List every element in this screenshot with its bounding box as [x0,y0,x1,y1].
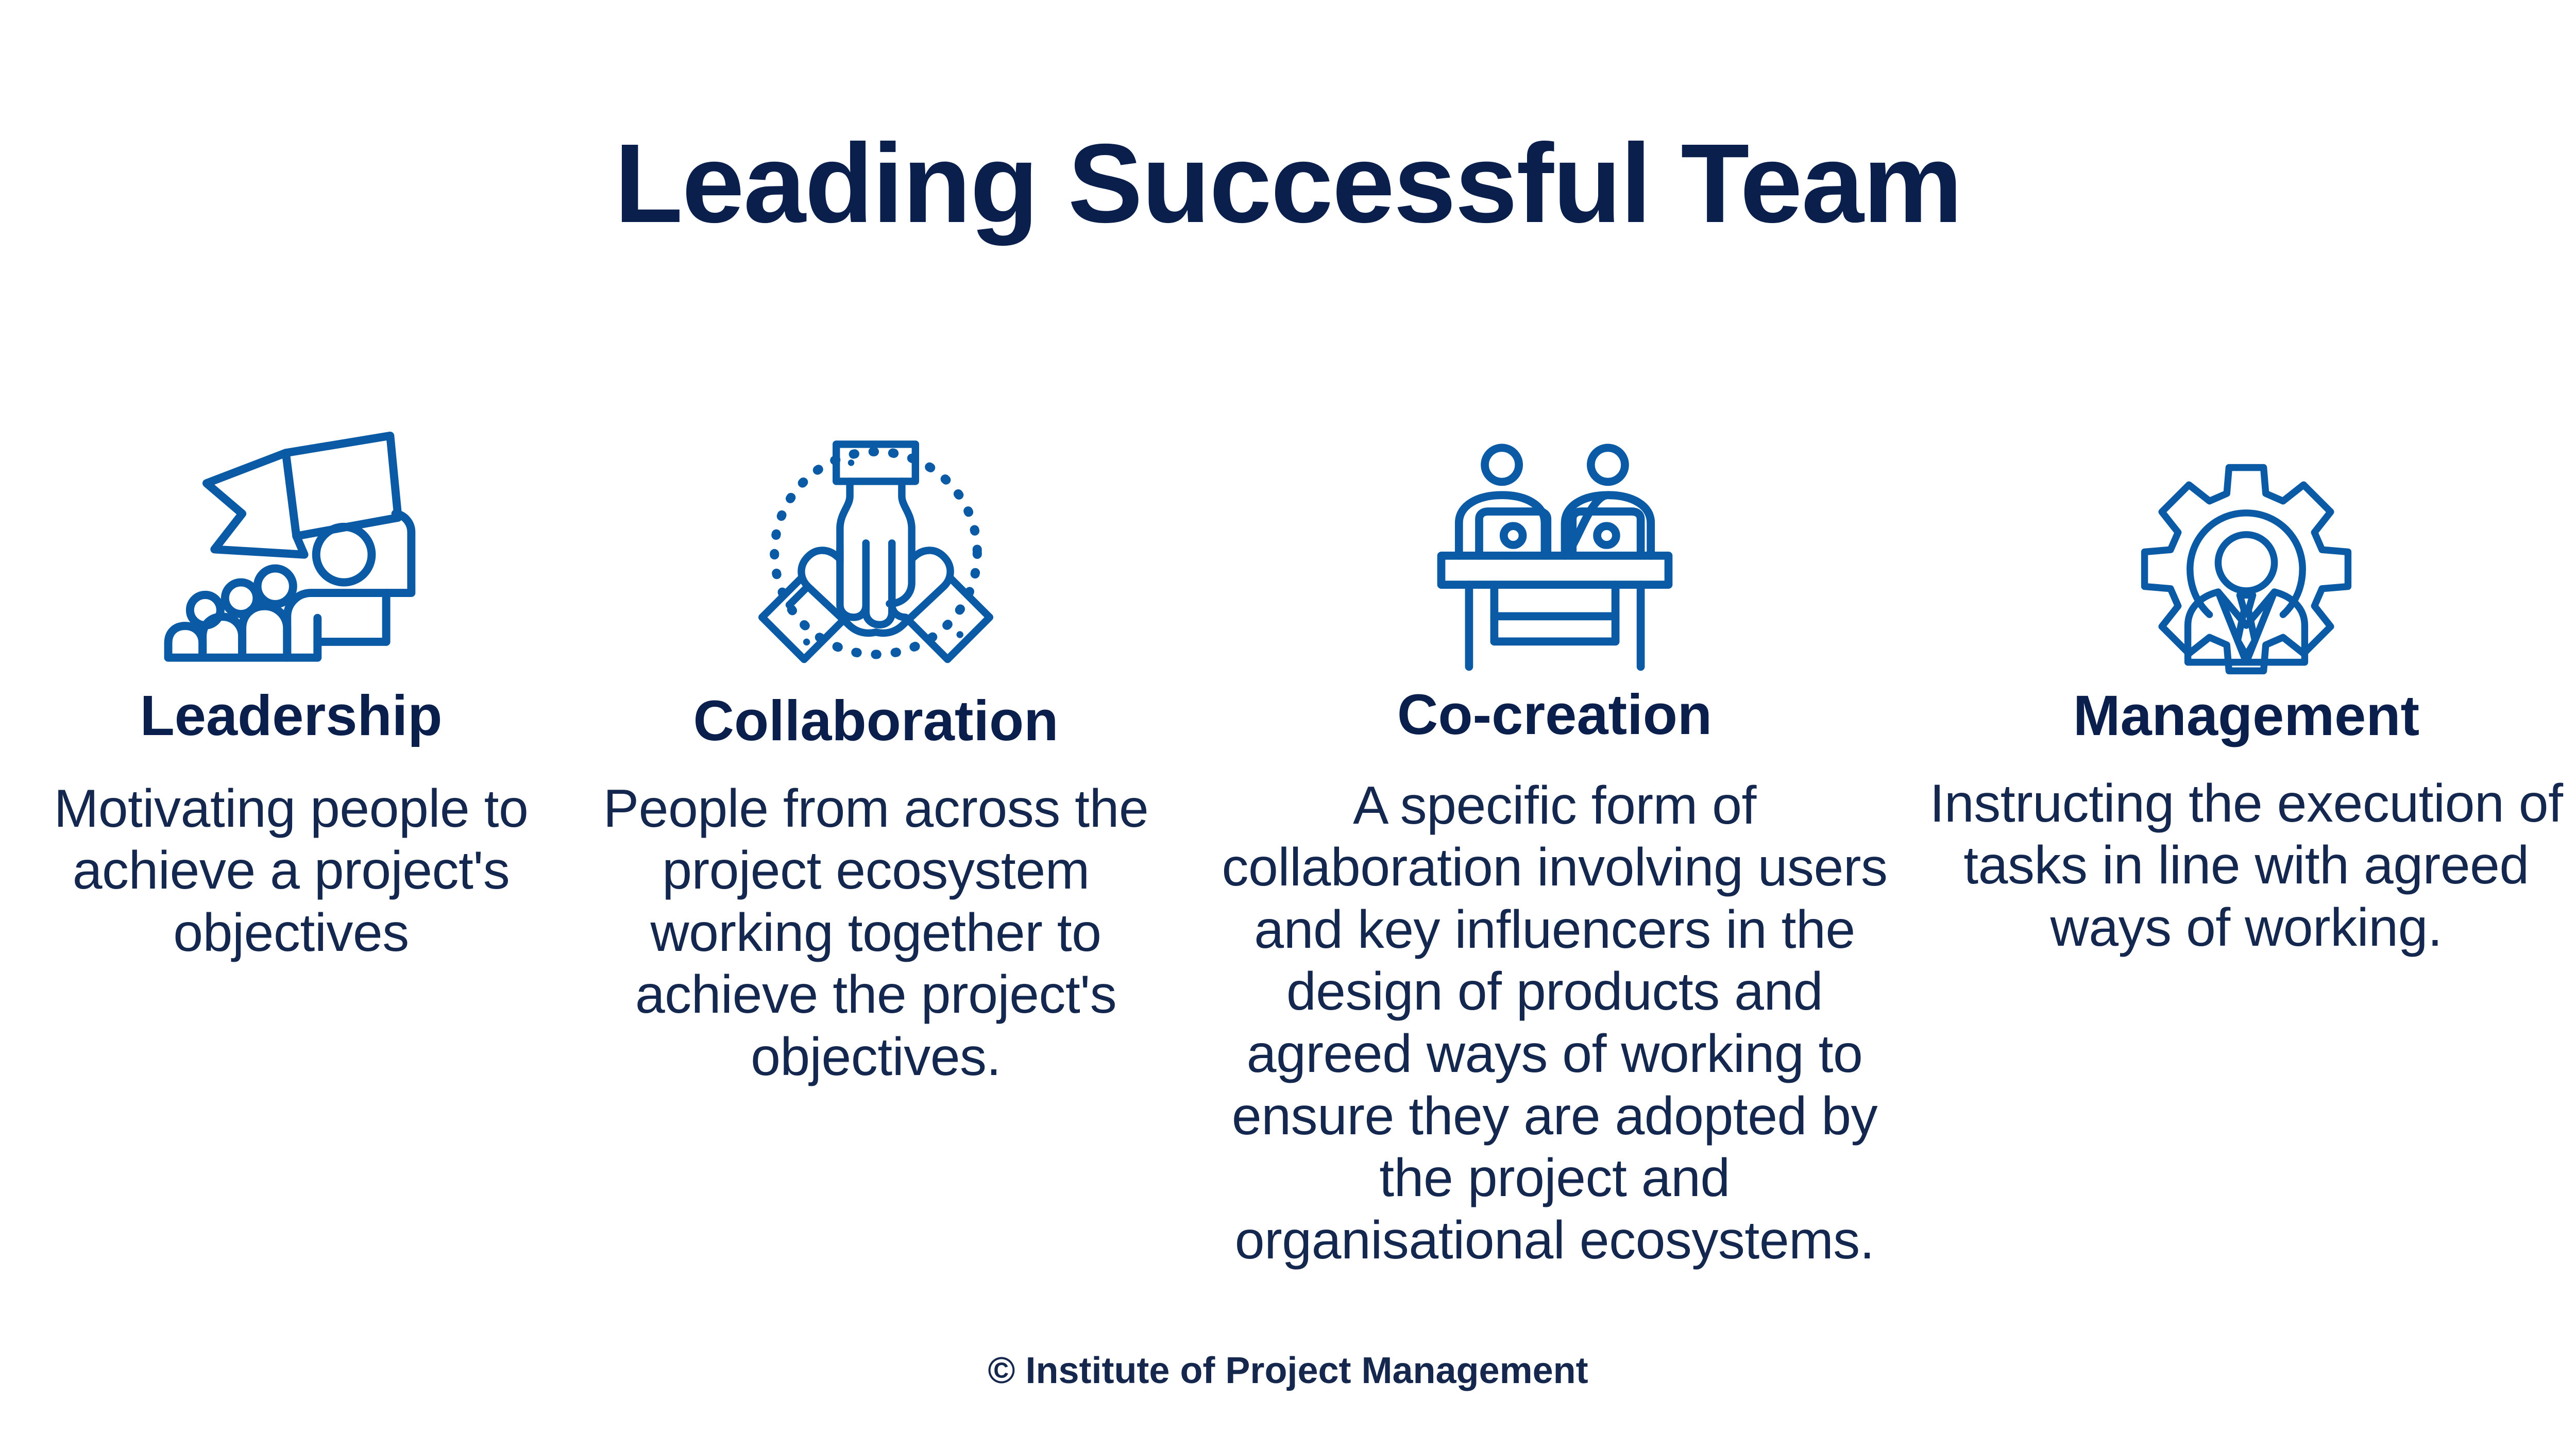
concept-columns: Leadership Motivating people to achieve … [0,412,2576,1272]
copyright-footer: © Institute of Project Management [0,1350,2576,1392]
concept-description-collaboration: People from across the project ecosystem… [572,778,1180,1088]
collaboration-icon-wrap [752,412,999,680]
leadership-icon-wrap [157,412,425,680]
concept-description-co-creation: A specific form of collaboration involvi… [1210,775,1900,1272]
concept-column-co-creation: Co-creation A specific form of collabora… [1206,412,1904,1272]
concept-column-collaboration: Collaboration People from across the pro… [567,412,1185,1088]
concept-column-management: Management Instructing the execution of … [1924,412,2568,959]
concept-description-leadership: Motivating people to achieve a project's… [28,778,554,964]
co-creation-desk-icon [1429,435,1681,677]
slide-canvas: Leading Successful Team [0,0,2576,1449]
co-creation-icon-wrap [1429,412,1681,680]
concept-description-management: Instructing the execution of tasks in li… [1929,773,2563,959]
concept-heading-leadership: Leadership [140,686,443,746]
leadership-flag-icon [157,417,425,675]
concept-column-leadership: Leadership Motivating people to achieve … [0,412,582,964]
concept-heading-management: Management [2073,686,2419,746]
management-icon-wrap [2138,412,2354,680]
management-gear-person-icon [2138,461,2354,677]
page-title: Leading Successful Team [0,128,2576,240]
concept-heading-collaboration: Collaboration [693,691,1059,751]
collaboration-hands-icon [752,419,999,677]
concept-heading-co-creation: Co-creation [1397,685,1712,745]
